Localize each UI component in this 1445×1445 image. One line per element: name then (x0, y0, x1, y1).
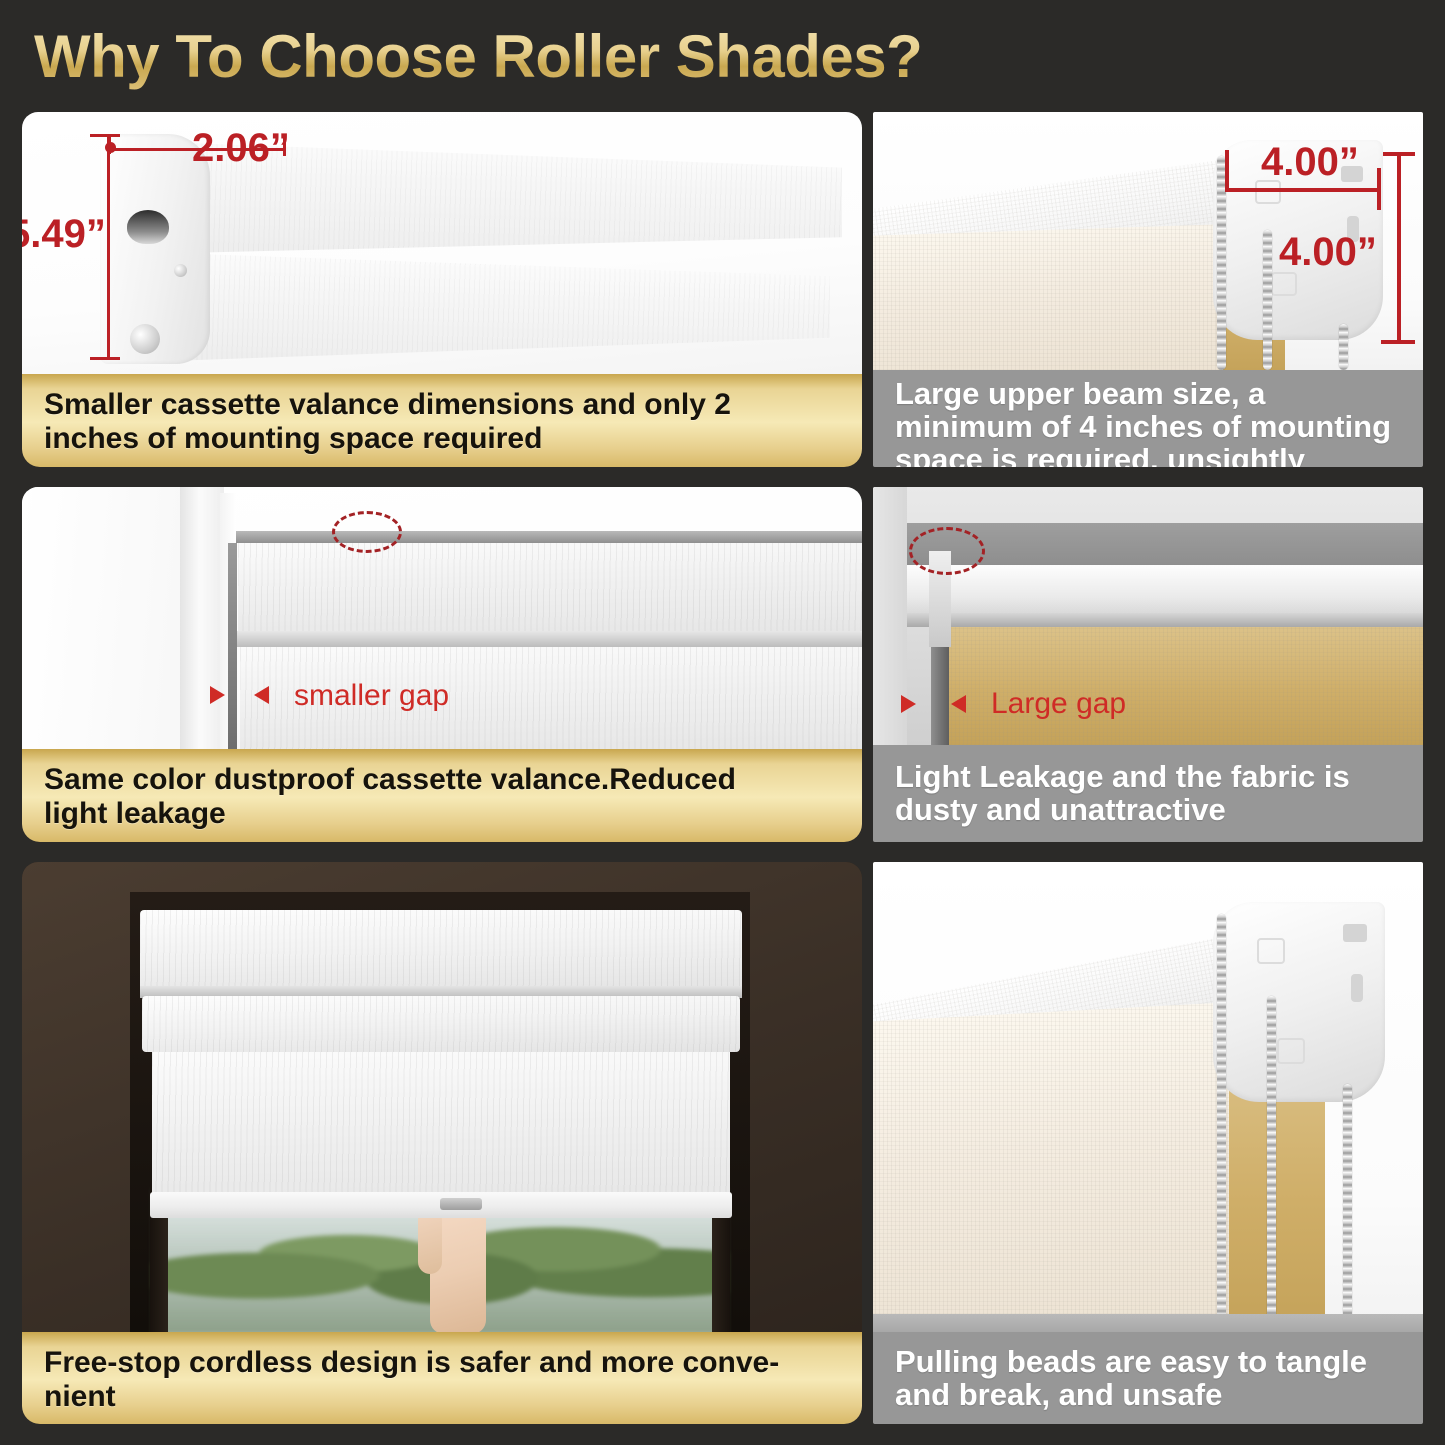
panel-3-caption-line-2: light leakage (44, 797, 736, 831)
tan-fabric-texture (947, 627, 1423, 745)
shade-fabric-texture-6 (873, 1002, 1235, 1334)
panel-4-photo: Large gap (873, 487, 1423, 745)
highlight-ellipse-icon (332, 511, 402, 553)
valance-lip (236, 631, 862, 647)
panel-2-caption-line-2: minimum of 4 inches of mounting (895, 411, 1391, 444)
panel-5: Free-stop cordless design is safer and m… (22, 862, 862, 1424)
gap-arrow-left-icon (210, 686, 225, 704)
wall-surface (22, 487, 194, 749)
bracket-slot-lower-6 (1351, 974, 1363, 1002)
panel-1-caption: Smaller cassette valance dimensions and … (22, 374, 862, 467)
panel-6-photo (873, 862, 1423, 1334)
valance-slot (127, 210, 169, 244)
valance-top-rail (236, 531, 862, 543)
p2-width-tick-left (1225, 150, 1229, 192)
panel-6: Pulling beads are easy to tangle and bre… (873, 862, 1423, 1424)
panel-3-photo: smaller gap (22, 487, 862, 749)
cassette-valance-lower (140, 252, 830, 362)
cassette-valance-lower-band (142, 996, 740, 1052)
p2-height-dimension-line (1397, 152, 1401, 344)
panel-6-caption: Pulling beads are easy to tangle and bre… (873, 1332, 1423, 1424)
shade-fabric-cream (873, 224, 1229, 370)
bead-chain-2 (1263, 230, 1272, 370)
panel-2-caption-line-1: Large upper beam size, a (895, 378, 1391, 411)
upper-beam-white (907, 565, 1423, 617)
panel-2-caption-line-3: space is required, unsightly (895, 444, 1391, 467)
large-gap-arrow-right-icon (951, 695, 966, 713)
highlight-ellipse-icon-4 (909, 527, 985, 575)
panel-1-photo: 2.06” 5.49” (22, 112, 862, 374)
large-gap-label: Large gap (991, 687, 1126, 721)
p2-height-tick-top (1383, 152, 1415, 156)
roller-shade-panel (152, 1052, 730, 1204)
panel-5-caption-line-1: Free-stop cordless design is safer and m… (44, 1346, 779, 1380)
p2-height-tick-bottom (1381, 340, 1415, 344)
p2-width-dimension-label: 4.00” (1261, 140, 1359, 185)
bracket-logo-upper-icon-6 (1257, 938, 1285, 964)
panel-4: Large gap Light Leakage and the fabric i… (873, 487, 1423, 842)
panel-2-caption: Large upper beam size, a minimum of 4 in… (873, 370, 1423, 467)
cassette-valance-top (140, 910, 742, 992)
panel-3: smaller gap Same color dustproof cassett… (22, 487, 862, 842)
panel-3-caption-line-1: Same color dustproof cassette valance.Re… (44, 763, 736, 797)
bracket-slot-upper-6 (1343, 924, 1367, 942)
panel-4-caption-line-1: Light Leakage and the fabric is (895, 761, 1350, 794)
width-dimension-label: 2.06” (192, 126, 290, 171)
panel-2-photo: 4.00” 4.00” (873, 112, 1423, 370)
panel-4-caption-line-2: dusty and unattractive (895, 794, 1350, 827)
window-frame-moulding (180, 487, 224, 749)
panel-1-caption-line-1: Smaller cassette valance dimensions and … (44, 388, 731, 422)
bead-chain-3 (1339, 324, 1348, 370)
p2-width-dimension-line (1225, 188, 1381, 192)
panel-1-caption-line-2: inches of mounting space required (44, 422, 731, 456)
infographic-page: Why To Choose Roller Shades? 2.06” (0, 0, 1445, 1445)
height-dimension-tick-top (90, 134, 120, 137)
height-dimension-label: 5.49” (22, 212, 106, 257)
panel-5-photo (22, 862, 862, 1334)
bead-chain-6-2 (1267, 996, 1276, 1334)
valance-lower-texture (140, 252, 830, 362)
valance-screw-lower (130, 324, 160, 354)
bead-chain-6-1 (1217, 914, 1226, 1334)
shade-fabric-cream-6 (873, 1002, 1235, 1334)
panel-5-caption-line-2: nient (44, 1380, 779, 1414)
cassette-lower-texture (142, 996, 740, 1052)
panel-5-caption: Free-stop cordless design is safer and m… (22, 1332, 862, 1424)
roller-shade-panel-texture (152, 1052, 730, 1204)
panel-4-caption: Light Leakage and the fabric is dusty an… (873, 745, 1423, 842)
bracket-logo-lower-icon (1271, 272, 1297, 296)
height-dimension-tick-bottom (90, 357, 120, 360)
side-gap-dark (228, 543, 237, 749)
valance-face-texture (238, 543, 862, 631)
panel-6-caption-line-1: Pulling beads are easy to tangle (895, 1346, 1367, 1379)
gap-arrow-right-icon (254, 686, 269, 704)
floor-shadow-strip (873, 1314, 1423, 1334)
p2-height-dimension-label: 4.00” (1279, 230, 1377, 275)
p2-width-tick-right (1377, 168, 1381, 210)
panel-6-caption-line-2: and break, and unsafe (895, 1379, 1367, 1412)
panel-1: 2.06” 5.49” Smaller cassette valance dim… (22, 112, 862, 467)
tan-shade-fabric (947, 627, 1423, 745)
cassette-top-texture (140, 910, 742, 992)
bottom-rail-grip (440, 1198, 482, 1210)
panel-3-caption: Same color dustproof cassette valance.Re… (22, 749, 862, 842)
page-title: Why To Choose Roller Shades? (34, 18, 1414, 96)
bracket-logo-lower-icon-6 (1277, 1038, 1305, 1064)
smaller-gap-label: smaller gap (294, 679, 449, 713)
bead-chain-6-3 (1343, 1084, 1352, 1334)
valance-screw-upper (174, 264, 187, 277)
shade-fabric-texture (873, 224, 1229, 370)
cassette-valance-face (238, 543, 862, 631)
large-gap-arrow-left-icon (901, 695, 916, 713)
height-dimension-line (107, 134, 110, 360)
panel-2: 4.00” 4.00” Large upper beam size, a min… (873, 112, 1423, 467)
beam-bottom-edge (907, 613, 1423, 627)
